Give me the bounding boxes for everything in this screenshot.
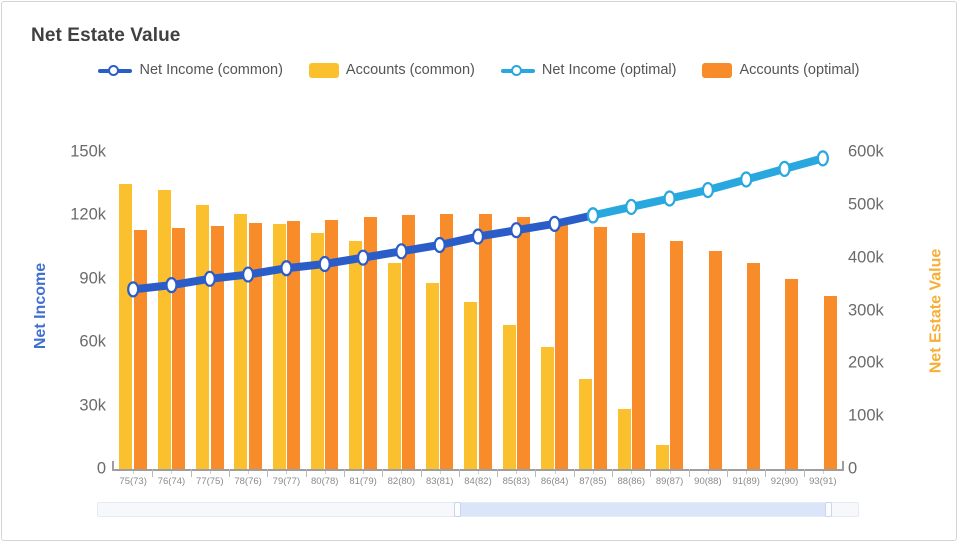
y-tick-label-right: 400k <box>848 248 884 267</box>
x-tick-label: 91(89) <box>732 476 759 487</box>
bar-accounts-optimal[interactable] <box>632 233 645 469</box>
legend-item-label: Net Income (common) <box>139 63 282 78</box>
x-axis-tick <box>497 469 498 477</box>
x-tick-label: 80(78) <box>311 476 338 487</box>
legend-item-1[interactable]: Accounts (common) <box>309 63 475 78</box>
x-axis-minor-tick <box>363 471 364 474</box>
x-axis-minor-tick <box>171 471 172 474</box>
scrollbar-handle-right[interactable] <box>825 502 832 517</box>
plot-wrapper: 030k60k90k120k150k 0100k200k300k400k500k… <box>2 2 957 541</box>
bar-accounts-optimal[interactable] <box>785 279 798 469</box>
bar-accounts-optimal[interactable] <box>211 226 224 469</box>
x-axis-minor-tick <box>210 471 211 474</box>
bar-accounts-optimal[interactable] <box>479 214 492 469</box>
legend-line-marker-icon <box>98 64 132 78</box>
x-axis-tick <box>650 469 651 477</box>
x-axis-tick <box>344 469 345 477</box>
line-marker-net-income-optimal[interactable] <box>741 172 751 186</box>
y-tick-label-left: 150k <box>70 143 106 162</box>
x-axis-minor-tick <box>593 471 594 474</box>
x-axis-minor-tick <box>670 471 671 474</box>
bar-accounts-common[interactable] <box>579 379 592 469</box>
legend-item-label: Net Income (optimal) <box>542 63 677 78</box>
bar-accounts-common[interactable] <box>273 224 286 469</box>
x-tick-label: 90(88) <box>694 476 721 487</box>
y-tick-label-left: 60k <box>79 333 106 352</box>
legend-item-label: Accounts (common) <box>346 63 475 78</box>
bar-accounts-optimal[interactable] <box>824 296 837 469</box>
chart-horizontal-scrollbar[interactable] <box>97 502 859 517</box>
x-tick-label: 82(80) <box>388 476 415 487</box>
x-axis-line <box>112 469 844 471</box>
x-tick-label: 78(76) <box>234 476 261 487</box>
x-axis-tick <box>382 469 383 477</box>
y-tick-label-left: 90k <box>79 269 106 288</box>
x-axis-tick <box>421 469 422 477</box>
bar-accounts-optimal[interactable] <box>555 222 568 469</box>
bar-accounts-common[interactable] <box>656 445 669 469</box>
bar-accounts-common[interactable] <box>464 302 477 469</box>
y-tick-label-right: 300k <box>848 301 884 320</box>
bar-accounts-common[interactable] <box>503 325 516 469</box>
x-axis-minor-tick <box>785 471 786 474</box>
x-tick-label: 92(90) <box>771 476 798 487</box>
bar-accounts-optimal[interactable] <box>364 217 377 469</box>
x-axis-tick <box>727 469 728 477</box>
bar-accounts-common[interactable] <box>426 283 439 469</box>
x-tick-label: 76(74) <box>158 476 185 487</box>
x-tick-label: 79(77) <box>273 476 300 487</box>
x-axis-tick <box>765 469 766 477</box>
bar-accounts-common[interactable] <box>158 190 171 469</box>
y-axis-right-title: Net Estate Value <box>927 249 945 374</box>
bar-accounts-common[interactable] <box>541 347 554 469</box>
y-tick-label-right: 100k <box>848 407 884 426</box>
x-axis-minor-tick <box>286 471 287 474</box>
x-axis-minor-tick <box>516 471 517 474</box>
x-axis-cap-right <box>842 461 844 470</box>
x-axis-minor-tick <box>823 471 824 474</box>
x-axis-minor-tick <box>631 471 632 474</box>
bar-accounts-common[interactable] <box>388 263 401 469</box>
y-tick-label-right: 200k <box>848 354 884 373</box>
y-axis-left: 030k60k90k120k150k <box>2 2 106 541</box>
x-axis-minor-tick <box>325 471 326 474</box>
x-axis-minor-tick <box>133 471 134 474</box>
bar-accounts-optimal[interactable] <box>287 221 300 469</box>
bar-accounts-common[interactable] <box>119 184 132 469</box>
x-axis-minor-tick <box>555 471 556 474</box>
bar-accounts-optimal[interactable] <box>172 228 185 469</box>
x-axis-tick <box>191 469 192 477</box>
x-axis-minor-tick <box>440 471 441 474</box>
x-axis-minor-tick <box>248 471 249 474</box>
x-axis-tick <box>306 469 307 477</box>
y-tick-label-right: 600k <box>848 143 884 162</box>
bar-accounts-optimal[interactable] <box>517 217 530 469</box>
legend-item-2[interactable]: Net Income (optimal) <box>501 63 677 78</box>
x-tick-label: 93(91) <box>809 476 836 487</box>
x-axis-minor-tick <box>478 471 479 474</box>
line-net-income-optimal <box>593 158 823 215</box>
x-tick-label: 85(83) <box>503 476 530 487</box>
line-marker-net-income-optimal[interactable] <box>818 151 828 165</box>
y-tick-label-right: 0 <box>848 460 857 479</box>
scrollbar-handle-left[interactable] <box>454 502 461 517</box>
x-axis-tick <box>229 469 230 477</box>
bar-accounts-common[interactable] <box>618 409 631 469</box>
legend-swatch-icon <box>309 63 339 78</box>
x-axis-cap-left <box>112 461 114 470</box>
bar-accounts-common[interactable] <box>234 214 247 469</box>
chart-legend: Net Income (common)Accounts (common)Net … <box>2 63 956 78</box>
line-marker-net-income-optimal[interactable] <box>780 162 790 176</box>
scrollbar-thumb[interactable] <box>455 503 831 516</box>
line-marker-net-income-optimal[interactable] <box>665 191 675 205</box>
plot-area <box>114 152 842 469</box>
x-axis-tick <box>535 469 536 477</box>
x-tick-label: 89(87) <box>656 476 683 487</box>
legend-swatch-icon <box>702 63 732 78</box>
line-marker-net-income-optimal[interactable] <box>588 208 598 222</box>
x-axis-tick <box>267 469 268 477</box>
bar-accounts-optimal[interactable] <box>747 263 760 469</box>
legend-item-3[interactable]: Accounts (optimal) <box>702 63 859 78</box>
x-axis-minor-tick <box>708 471 709 474</box>
bar-accounts-optimal[interactable] <box>325 220 338 469</box>
legend-item-0[interactable]: Net Income (common) <box>98 63 282 78</box>
bar-accounts-optimal[interactable] <box>440 214 453 469</box>
bar-accounts-optimal[interactable] <box>249 223 262 469</box>
legend-line-marker-icon <box>501 64 535 78</box>
x-axis-tick <box>804 469 805 477</box>
y-tick-label-left: 0 <box>97 460 106 479</box>
x-tick-label: 75(73) <box>119 476 146 487</box>
y-axis-right: 0100k200k300k400k500k600k <box>848 2 918 541</box>
y-tick-label-right: 500k <box>848 195 884 214</box>
x-tick-label: 77(75) <box>196 476 223 487</box>
line-marker-net-income-common[interactable] <box>588 208 598 222</box>
y-tick-label-left: 30k <box>79 396 106 415</box>
line-marker-net-income-optimal[interactable] <box>626 200 636 214</box>
x-tick-label: 84(82) <box>464 476 491 487</box>
x-axis-minor-tick <box>746 471 747 474</box>
line-marker-net-income-optimal[interactable] <box>703 183 713 197</box>
x-tick-label: 81(79) <box>349 476 376 487</box>
bar-accounts-common[interactable] <box>196 205 209 469</box>
legend-item-label: Accounts (optimal) <box>739 63 859 78</box>
x-tick-label: 87(85) <box>579 476 606 487</box>
x-axis-tick <box>612 469 613 477</box>
page-title: Net Estate Value <box>31 25 180 47</box>
x-axis-tick <box>459 469 460 477</box>
bar-accounts-optimal[interactable] <box>594 227 607 469</box>
x-axis-tick <box>152 469 153 477</box>
bar-accounts-optimal[interactable] <box>134 230 147 469</box>
bar-accounts-common[interactable] <box>349 241 362 469</box>
bar-accounts-optimal[interactable] <box>670 241 683 469</box>
bar-accounts-optimal[interactable] <box>709 251 722 469</box>
x-tick-label: 83(81) <box>426 476 453 487</box>
x-tick-label: 86(84) <box>541 476 568 487</box>
bar-accounts-optimal[interactable] <box>402 215 415 469</box>
x-axis-tick <box>574 469 575 477</box>
bar-accounts-common[interactable] <box>311 233 324 469</box>
chart-card: Net Estate Value Net Income (common)Acco… <box>1 1 957 541</box>
y-axis-left-title: Net Income <box>32 263 50 349</box>
x-axis-tick <box>689 469 690 477</box>
x-tick-label: 88(86) <box>618 476 645 487</box>
y-tick-label-left: 120k <box>70 206 106 225</box>
x-axis-minor-tick <box>401 471 402 474</box>
